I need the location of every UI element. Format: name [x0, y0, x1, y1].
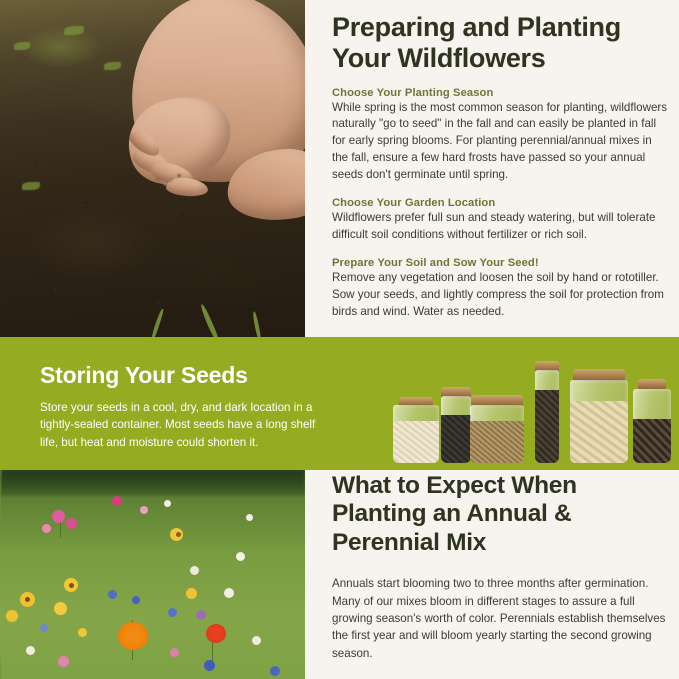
- flower-purple: [196, 610, 206, 620]
- flower-pink: [58, 656, 69, 667]
- body-garden-location: Wildflowers prefer full sun and steady w…: [332, 210, 669, 244]
- flower-magenta: [112, 496, 122, 506]
- flower-yellow-coreopsis: [186, 588, 197, 599]
- flower-pink: [170, 648, 179, 657]
- seed-fill: [393, 421, 439, 463]
- infographic-page: Preparing and Planting Your Wildflowers …: [0, 0, 679, 679]
- grass-texture: [0, 470, 305, 679]
- sprout: [104, 62, 121, 70]
- seed-fill: [633, 419, 671, 463]
- body-planting-season: While spring is the most common season f…: [332, 100, 669, 185]
- hand-sowing-seeds-photo: [0, 0, 305, 337]
- flower-blue-cornflower: [270, 666, 280, 676]
- glass-body: [570, 380, 628, 463]
- glass-body: [535, 370, 559, 463]
- flower-white: [246, 514, 253, 521]
- subhead-garden-location: Choose Your Garden Location: [332, 197, 669, 209]
- flower-red-poppy: [206, 624, 226, 643]
- subhead-planting-season: Choose Your Planting Season: [332, 87, 669, 99]
- flower-center: [69, 583, 74, 588]
- flower-yellow-coreopsis: [54, 602, 67, 615]
- what-to-expect-text-column: What to Expect When Planting an Annual &…: [332, 472, 679, 679]
- jar-dark-seeds: [532, 361, 562, 463]
- flower-yellow: [78, 628, 87, 637]
- flower-white: [190, 566, 199, 575]
- jar-brown-grain: [468, 395, 526, 463]
- what-to-expect-title: What to Expect When Planting an Annual &…: [332, 472, 669, 557]
- what-to-expect-body: Annuals start blooming two to three mont…: [332, 575, 669, 662]
- seed-storage-jars-photo: [392, 357, 672, 463]
- flower-pink: [140, 506, 148, 514]
- flower-blue-cornflower: [132, 596, 140, 604]
- storing-seeds-body: Store your seeds in a cool, dry, and dar…: [40, 399, 335, 451]
- jar-speckled-beans: [632, 379, 672, 463]
- seed-fill: [570, 401, 628, 463]
- flower-blue-cornflower: [108, 590, 117, 599]
- jar-white-beans: [392, 397, 440, 463]
- storing-seeds-title: Storing Your Seeds: [40, 362, 248, 389]
- glass-body: [441, 396, 471, 463]
- section-what-to-expect: What to Expect When Planting an Annual &…: [0, 470, 679, 679]
- flower-orange-poppy: [118, 622, 148, 650]
- glass-body: [393, 405, 439, 463]
- seed-fill: [470, 421, 524, 463]
- flower-pink-cosmos: [66, 518, 77, 529]
- section-preparing-planting: Preparing and Planting Your Wildflowers …: [0, 0, 679, 337]
- page-title: Preparing and Planting Your Wildflowers: [332, 12, 669, 74]
- seed-fill: [535, 390, 559, 463]
- wildflower-meadow-photo: [0, 470, 305, 679]
- flower-yellow-coreopsis: [6, 610, 18, 622]
- flower-blue-cornflower: [40, 624, 48, 632]
- body-prepare-soil: Remove any vegetation and loosen the soi…: [332, 270, 669, 321]
- jar-pumpkin-seeds: [568, 369, 630, 463]
- cork-lid: [638, 379, 666, 389]
- preparing-text-column: Preparing and Planting Your Wildflowers …: [332, 0, 679, 337]
- glass-body: [633, 389, 671, 463]
- seed-fill: [441, 415, 471, 463]
- flower-white: [224, 588, 234, 598]
- flower-blue-cornflower: [204, 660, 215, 671]
- glass-body: [470, 405, 524, 463]
- flower-yellow-coreopsis: [176, 532, 181, 537]
- subhead-prepare-soil: Prepare Your Soil and Sow Your Seed!: [332, 257, 669, 269]
- sprout: [64, 26, 84, 35]
- sprout: [22, 182, 40, 190]
- flower-pink-cosmos: [52, 510, 65, 523]
- flower-pink-cosmos: [42, 524, 51, 533]
- sprout: [14, 42, 30, 50]
- flower-blue-cornflower: [168, 608, 177, 617]
- flower-center: [25, 597, 30, 602]
- flower-white: [164, 500, 171, 507]
- flower-white: [236, 552, 245, 561]
- flower-white: [26, 646, 35, 655]
- flower-white: [252, 636, 261, 645]
